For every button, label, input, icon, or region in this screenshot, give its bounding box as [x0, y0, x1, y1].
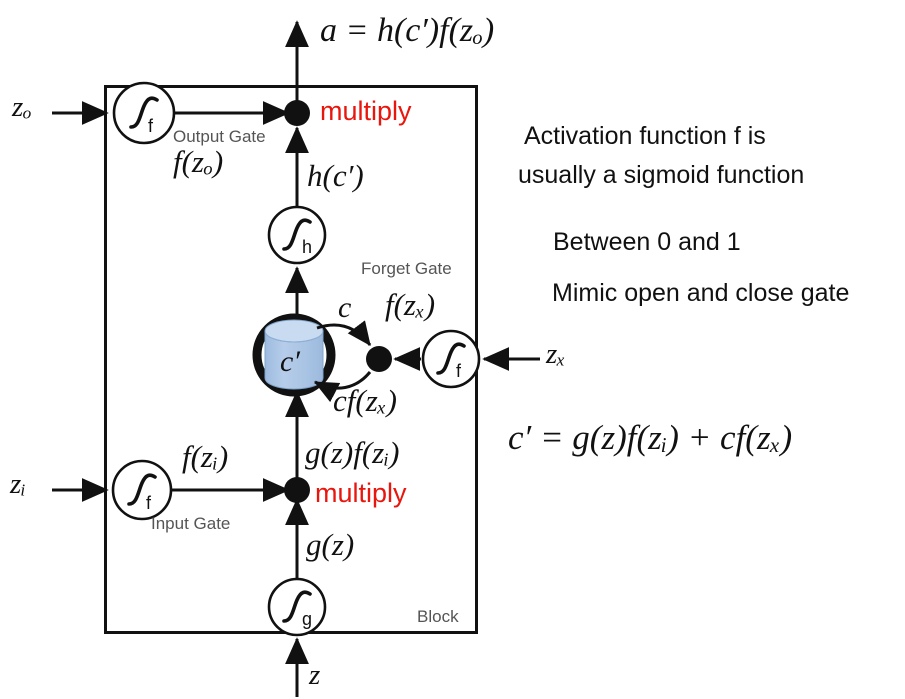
forget-gate-glyph-subscript: f	[456, 362, 461, 380]
signal-f-zf: f(zₓ)	[385, 289, 435, 320]
signal-h-c: h(c′)	[307, 160, 364, 191]
h-unit-glyph-subscript: h	[302, 238, 312, 256]
signal-input-product: g(z)f(zᵢ)	[305, 437, 399, 468]
signal-f-zo: f(zₒ)	[173, 146, 223, 177]
top-multiply-dot	[284, 100, 310, 126]
output-gate-name: Output Gate	[173, 128, 266, 145]
signal-f-zi: f(zᵢ)	[182, 441, 228, 472]
input-label-zo: zₒ	[12, 93, 32, 122]
input-gate-sigmoid-circle	[113, 461, 171, 519]
input-gate-name: Input Gate	[151, 515, 230, 532]
top-multiply-label: multiply	[320, 98, 412, 125]
signal-forget-product: cf(zₓ)	[333, 385, 397, 416]
input-label-zf: zₓ	[546, 340, 566, 369]
bottom-multiply-dot	[284, 477, 310, 503]
bottom-multiply-label: multiply	[315, 480, 407, 507]
forget-multiply-dot	[366, 346, 392, 372]
g-activation-circle	[269, 579, 325, 635]
output-gate-glyph-subscript: f	[148, 117, 153, 135]
diagram-vector-layer	[0, 0, 905, 699]
cell-update-equation: c′ = g(z)f(zᵢ) + cf(zₓ)	[508, 420, 792, 455]
output-gate-sigmoid-circle	[114, 83, 174, 143]
input-label-zi: zᵢ	[10, 470, 26, 499]
h-activation-circle	[269, 207, 325, 263]
note-line-3: Between 0 and 1	[553, 230, 741, 255]
lstm-block-diagram: a = h(c′)f(zₒ) zₒ zᵢ zₓ z f h f f g Outp…	[0, 0, 905, 699]
input-label-z: z	[309, 661, 320, 690]
output-equation: a = h(c′)f(zₒ)	[320, 14, 494, 48]
signal-g-z: g(z)	[306, 529, 354, 560]
forget-gate-sigmoid-circle	[423, 331, 479, 387]
cell-state-label: c′	[280, 347, 300, 377]
note-line-4: Mimic open and close gate	[552, 281, 849, 306]
forget-gate-name: Forget Gate	[361, 260, 452, 277]
note-line-1: Activation function f is	[524, 124, 766, 149]
input-gate-glyph-subscript: f	[146, 494, 151, 512]
signal-cell-recurrent: c	[338, 293, 351, 323]
note-line-2: usually a sigmoid function	[518, 163, 804, 188]
g-unit-glyph-subscript: g	[302, 610, 312, 628]
block-label: Block	[417, 608, 459, 625]
